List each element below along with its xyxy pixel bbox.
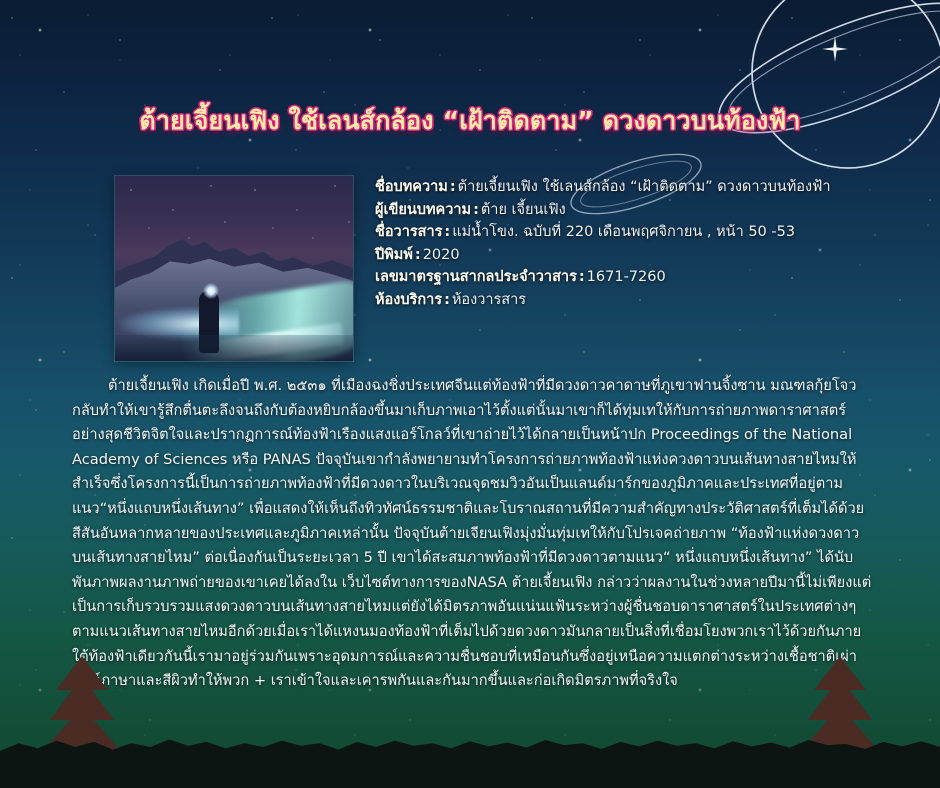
metadata-label: เลขมาตรฐานสากลประจำวาสาร xyxy=(375,269,577,285)
metadata-label: ชื่อวารสาร xyxy=(375,224,442,240)
foreground-forest xyxy=(0,696,940,788)
metadata-value: ห้องวารสาร xyxy=(452,292,526,308)
poster-canvas: ต้ายเจี้ยนเฟิง ใช้เลนส์กล้อง “เฝ้าติดตาม… xyxy=(0,0,940,788)
metadata-label: ปีพิมพ์ xyxy=(375,247,413,263)
metadata-label: ผู้เขียนบทความ xyxy=(375,202,471,218)
metadata-value: ต้าย เจี้ยนเฟิง xyxy=(481,202,566,218)
metadata-value: แม่น้ำโขง. ฉบับที่ 220 เดือนพฤศจิกายน , … xyxy=(452,224,795,240)
metadata-label: ชื่อบทความ xyxy=(375,179,448,195)
metadata-separator: : xyxy=(448,179,458,195)
metadata-value: 2020 xyxy=(423,247,460,263)
metadata-label: ห้องบริการ xyxy=(375,292,442,308)
article-metadata: ชื่อบทความ:ต้ายเจี้ยนเฟิง ใช้เลนส์กล้อง … xyxy=(375,176,895,311)
metadata-separator: : xyxy=(442,292,452,308)
sparkle-star-icon xyxy=(822,36,848,62)
page-title: ต้ายเจี้ยนเฟิง ใช้เลนส์กล้อง “เฝ้าติดตาม… xyxy=(0,101,940,141)
metadata-row-service-room: ห้องบริการ:ห้องวารสาร xyxy=(375,289,895,312)
photo-headlamp-glow xyxy=(203,283,219,299)
metadata-value: 1671-7260 xyxy=(587,269,666,285)
article-body-paragraph: ต้ายเจี้ยนเฟิง เกิดเมื่อปี พ.ศ. ๒๕๓๑ ที่… xyxy=(72,374,872,694)
photo-foreground xyxy=(115,335,353,361)
metadata-row-title: ชื่อบทความ:ต้ายเจี้ยนเฟิง ใช้เลนส์กล้อง … xyxy=(375,176,895,199)
metadata-row-journal: ชื่อวารสาร:แม่น้ำโขง. ฉบับที่ 220 เดือนพ… xyxy=(375,221,895,244)
metadata-value: ต้ายเจี้ยนเฟิง ใช้เลนส์กล้อง “เฝ้าติดตาม… xyxy=(458,179,831,195)
metadata-row-year: ปีพิมพ์:2020 xyxy=(375,244,895,267)
metadata-separator: : xyxy=(413,247,423,263)
metadata-row-author: ผู้เขียนบทความ:ต้าย เจี้ยนเฟิง xyxy=(375,199,895,222)
metadata-row-issn: เลขมาตรฐานสากลประจำวาสาร:1671-7260 xyxy=(375,266,895,289)
ringed-planet-icon xyxy=(678,0,940,184)
metadata-separator: : xyxy=(471,202,481,218)
article-body: ต้ายเจี้ยนเฟิง เกิดเมื่อปี พ.ศ. ๒๕๓๑ ที่… xyxy=(72,374,872,694)
metadata-separator: : xyxy=(577,269,587,285)
forest-ground-silhouette xyxy=(0,724,940,788)
metadata-separator: : xyxy=(442,224,452,240)
article-photo xyxy=(115,176,353,361)
